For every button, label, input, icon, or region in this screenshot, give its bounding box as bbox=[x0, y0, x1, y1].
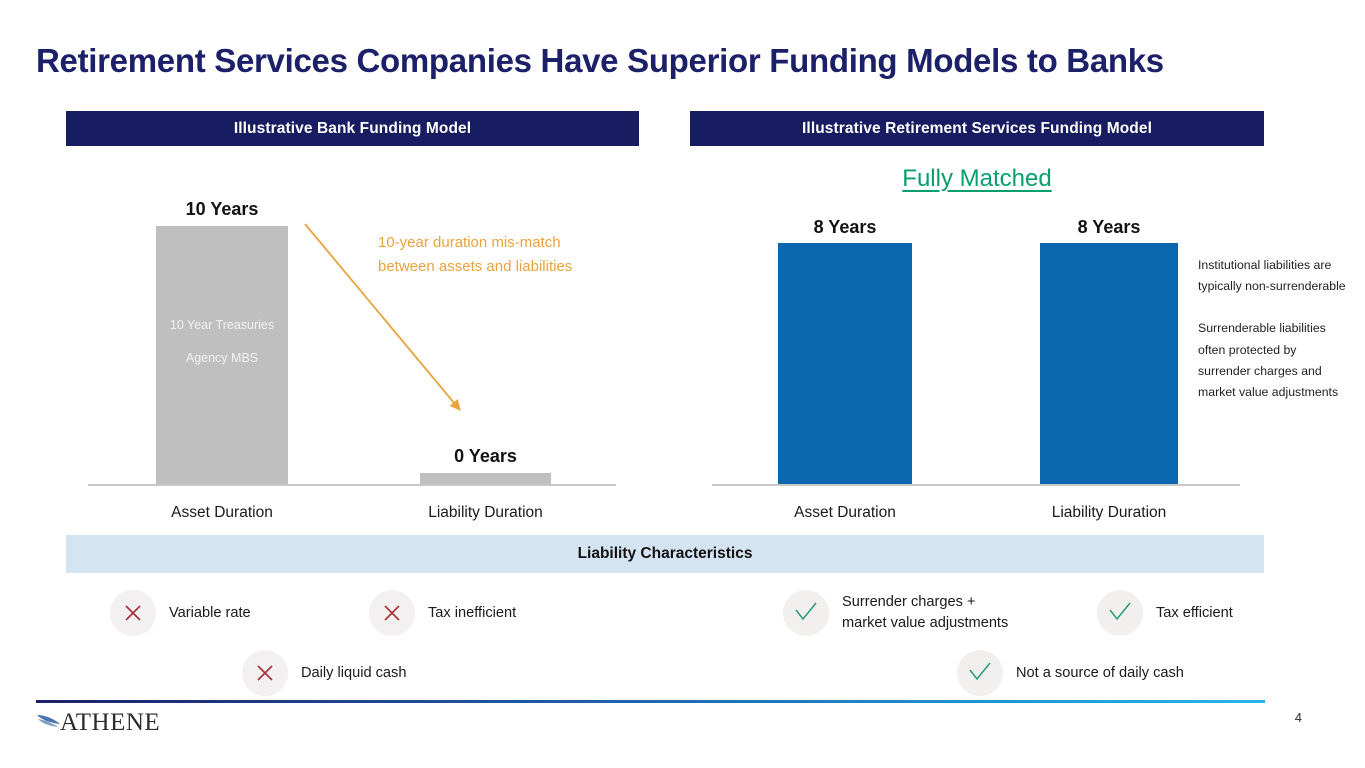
retirement-asset-axis-label: Asset Duration bbox=[778, 504, 912, 522]
retirement-panel-header: Illustrative Retirement Services Funding… bbox=[690, 111, 1264, 146]
retirement-liability-axis-label: Liability Duration bbox=[1040, 504, 1178, 522]
liability-characteristics-title: Liability Characteristics bbox=[578, 545, 753, 563]
retirement-funding-chart: 8 Years 8 Years Asset Duration Liability… bbox=[690, 190, 1264, 490]
characteristic-surrender-charges: Surrender charges + market value adjustm… bbox=[783, 590, 1008, 636]
footer-divider bbox=[36, 700, 1265, 703]
athene-logo: ATHENE bbox=[36, 709, 160, 737]
characteristic-label: Variable rate bbox=[169, 603, 251, 624]
bank-asset-axis-label: Asset Duration bbox=[156, 504, 288, 522]
check-mark-icon bbox=[783, 590, 829, 636]
retirement-note-1: Institutional liabilities are typically … bbox=[1198, 255, 1348, 297]
bank-panel-header-label: Illustrative Bank Funding Model bbox=[234, 120, 471, 138]
characteristic-label: Tax inefficient bbox=[428, 603, 516, 624]
retirement-panel-header-label: Illustrative Retirement Services Funding… bbox=[802, 120, 1152, 138]
x-mark-icon bbox=[110, 590, 156, 636]
characteristic-variable-rate: Variable rate bbox=[110, 590, 251, 636]
page-number: 4 bbox=[1295, 710, 1302, 725]
retirement-side-notes: Institutional liabilities are typically … bbox=[1198, 255, 1348, 403]
characteristic-tax-efficient: Tax efficient bbox=[1097, 590, 1233, 636]
retirement-asset-value-label: 8 Years bbox=[778, 217, 912, 238]
bank-panel-header: Illustrative Bank Funding Model bbox=[66, 111, 639, 146]
x-mark-icon bbox=[369, 590, 415, 636]
characteristic-label: Daily liquid cash bbox=[301, 663, 406, 684]
retirement-asset-duration-bar bbox=[778, 243, 912, 484]
bank-liability-axis-label: Liability Duration bbox=[420, 504, 551, 522]
characteristic-label: Tax efficient bbox=[1156, 603, 1233, 624]
x-mark-icon bbox=[242, 650, 288, 696]
check-mark-icon bbox=[1097, 590, 1143, 636]
athene-swoosh-icon bbox=[36, 712, 62, 734]
liability-characteristics-band: Liability Characteristics bbox=[66, 535, 1264, 573]
bank-asset-value-label: 10 Years bbox=[156, 199, 288, 220]
bank-chart-axis bbox=[88, 484, 616, 486]
characteristic-tax-inefficient: Tax inefficient bbox=[369, 590, 516, 636]
fully-matched-label: Fully Matched bbox=[690, 165, 1264, 193]
bank-liability-value-label: 0 Years bbox=[420, 446, 551, 467]
retirement-liability-duration-bar bbox=[1040, 243, 1178, 484]
retirement-liability-value-label: 8 Years bbox=[1040, 217, 1178, 238]
retirement-note-2: Surrenderable liabilities often protecte… bbox=[1198, 318, 1348, 403]
check-mark-icon bbox=[957, 650, 1003, 696]
characteristic-daily-liquid-cash: Daily liquid cash bbox=[242, 650, 406, 696]
page-title: Retirement Services Companies Have Super… bbox=[36, 42, 1164, 80]
bank-asset-bar-line-2: Agency MBS bbox=[156, 343, 288, 373]
bank-liability-duration-bar bbox=[420, 473, 551, 484]
duration-mismatch-note: 10-year duration mis-match between asset… bbox=[378, 231, 608, 279]
retirement-chart-axis bbox=[712, 484, 1240, 486]
characteristic-label: Surrender charges + market value adjustm… bbox=[842, 592, 1008, 634]
bank-asset-bar-line-1: 10 Year Treasuries bbox=[156, 310, 288, 340]
characteristic-label: Not a source of daily cash bbox=[1016, 663, 1184, 684]
characteristic-not-source-of-daily-cash: Not a source of daily cash bbox=[957, 650, 1184, 696]
athene-logo-text: ATHENE bbox=[60, 709, 160, 737]
